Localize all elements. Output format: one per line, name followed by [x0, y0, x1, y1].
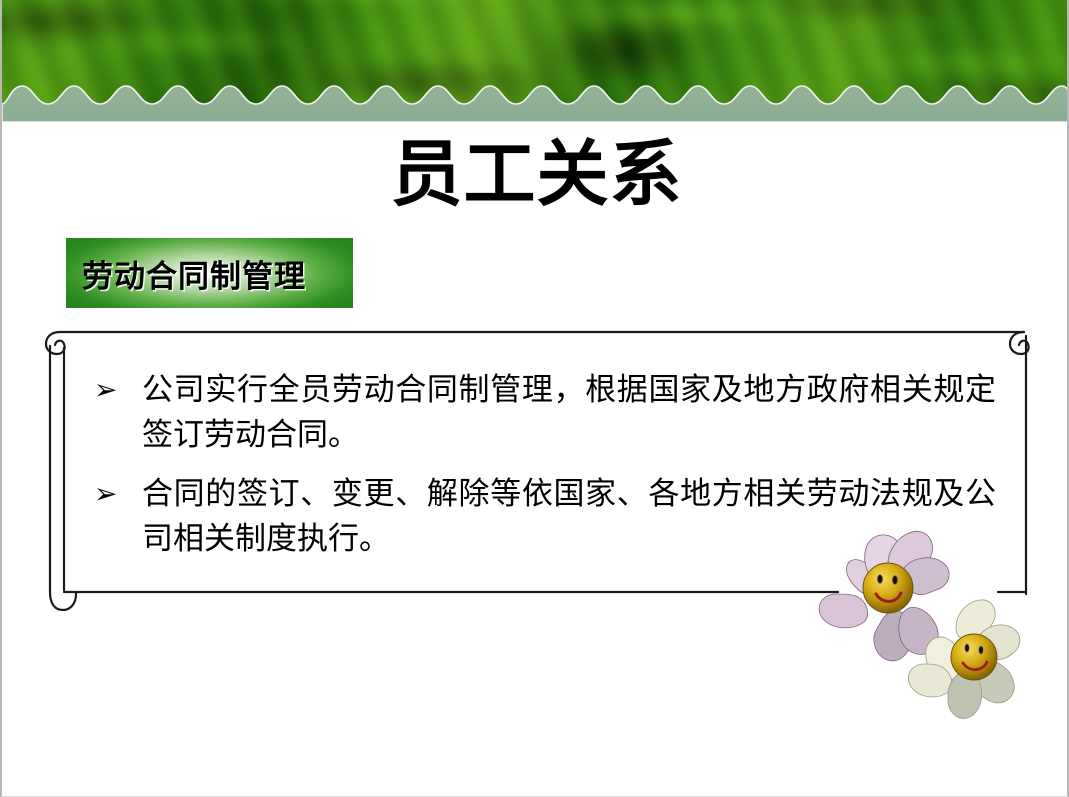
- presentation-slide: 员工关系 劳动合同制管理 ➢: [0, 0, 1069, 797]
- arrow-bullet-icon: ➢: [86, 472, 142, 516]
- page-title: 员工关系: [2, 134, 1069, 214]
- section-label-box: 劳动合同制管理: [66, 238, 353, 308]
- header-banner: [2, 0, 1069, 122]
- section-label-text: 劳动合同制管理: [82, 251, 306, 296]
- list-item: ➢ 公司实行全员劳动合同制管理，根据国家及地方政府相关规定签订劳动合同。: [86, 368, 996, 458]
- two-smiling-flowers-clipart-icon: [802, 524, 1032, 736]
- bullet-text: 公司实行全员劳动合同制管理，根据国家及地方政府相关规定签订劳动合同。: [142, 368, 996, 458]
- scalloped-wave-border-icon: [2, 82, 1069, 122]
- arrow-bullet-icon: ➢: [86, 368, 142, 412]
